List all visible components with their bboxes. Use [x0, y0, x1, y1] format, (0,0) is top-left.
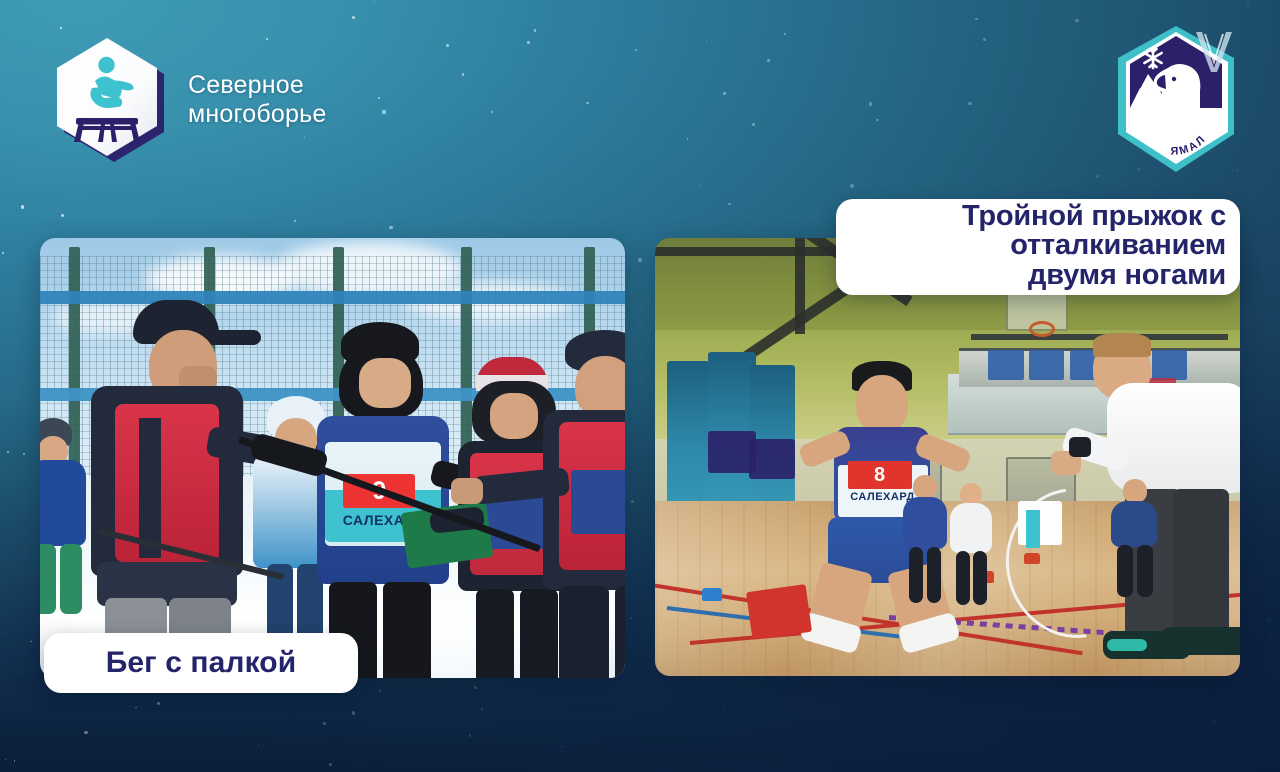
brand-title: Северное многоборье — [188, 71, 326, 130]
photo-triple-jump[interactable]: V·2026 — [655, 238, 1240, 676]
photo-vignette — [655, 238, 1240, 676]
caption-triple-jump: Тройной прыжок с отталкиванием двумя ног… — [836, 199, 1240, 295]
caption-running-with-stick: Бег с палкой — [44, 633, 358, 693]
yamal-games-emblem: ЯМАЛ — [1110, 22, 1242, 177]
photo-vignette — [40, 238, 625, 678]
poster-canvas: Северное многоборье — [0, 0, 1280, 772]
caption-left-text: Бег с палкой — [106, 646, 297, 680]
caption-right-text: Тройной прыжок с отталкиванием двумя ног… — [854, 202, 1226, 291]
hexagon-jumper-over-sleds-icon — [54, 34, 166, 166]
photo-running-with-stick[interactable]: 9 САЛЕХАРД — [40, 238, 625, 678]
brand-lockup: Северное многоборье — [54, 34, 326, 166]
